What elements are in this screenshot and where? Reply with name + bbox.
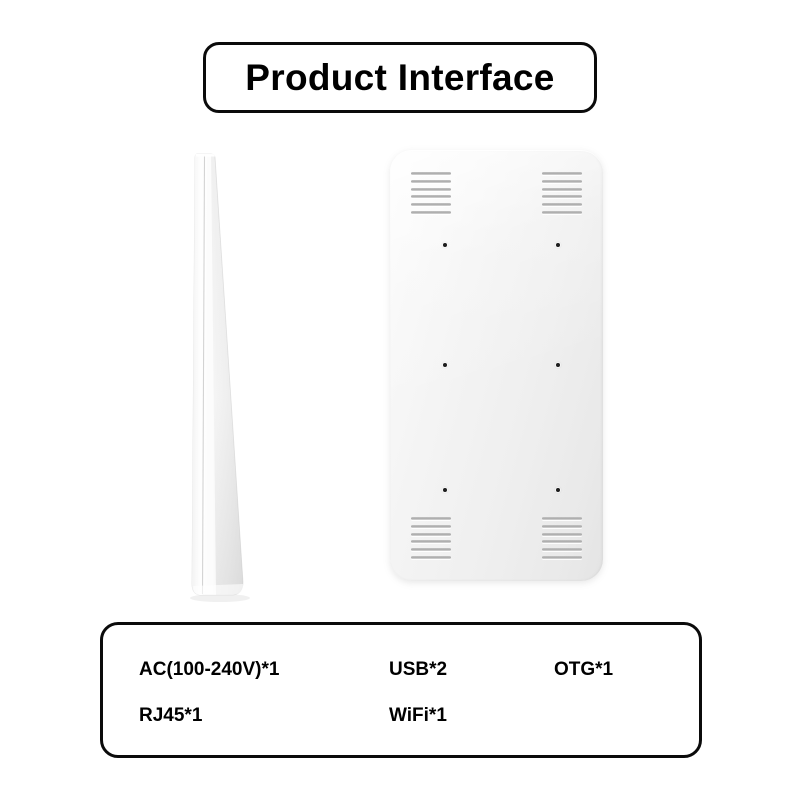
vent-slot: [542, 556, 582, 559]
screw-hole: [443, 243, 447, 247]
page-title-box: Product Interface: [203, 42, 597, 113]
page-title: Product Interface: [245, 59, 554, 96]
vent-grille-bottom-left: [411, 517, 451, 559]
product-back-panel-view: [390, 150, 603, 581]
vent-slot: [542, 180, 582, 183]
vent-slot: [542, 211, 582, 214]
vent-slot: [411, 556, 451, 559]
vent-slot: [542, 525, 582, 528]
vent-slot: [542, 195, 582, 198]
specification-grid: AC(100-240V)*1 USB*2 OTG*1 RJ45*1 WiFi*1: [139, 647, 681, 739]
screw-hole: [556, 488, 560, 492]
vent-slot: [411, 548, 451, 551]
vent-slot: [411, 188, 451, 191]
screw-hole: [443, 488, 447, 492]
vent-slot: [542, 517, 582, 520]
vent-slot: [542, 540, 582, 543]
vent-slot: [411, 517, 451, 520]
vent-slot: [411, 211, 451, 214]
screw-hole: [556, 363, 560, 367]
vent-grille-top-right: [542, 172, 582, 214]
vent-slot: [542, 188, 582, 191]
vent-slot: [542, 533, 582, 536]
vent-slot: [411, 180, 451, 183]
product-image-stage: [0, 128, 800, 608]
vent-slot: [411, 195, 451, 198]
vent-grille-top-left: [411, 172, 451, 214]
vent-slot: [542, 172, 582, 175]
spec-item-rj45: RJ45*1: [139, 705, 389, 727]
vent-slot: [411, 533, 451, 536]
spec-item-otg: OTG*1: [554, 659, 681, 681]
vent-slot: [542, 203, 582, 206]
screw-hole: [443, 363, 447, 367]
vent-slot: [411, 540, 451, 543]
spec-item-ac: AC(100-240V)*1: [139, 659, 389, 681]
vent-slot: [542, 548, 582, 551]
vent-grille-bottom-right: [542, 517, 582, 559]
specification-box: AC(100-240V)*1 USB*2 OTG*1 RJ45*1 WiFi*1: [100, 622, 702, 758]
screw-hole: [556, 243, 560, 247]
product-side-profile-view: [186, 146, 256, 602]
vent-slot: [411, 203, 451, 206]
vent-slot: [411, 525, 451, 528]
spec-item-usb: USB*2: [389, 659, 554, 681]
spec-item-wifi: WiFi*1: [389, 705, 554, 727]
vent-slot: [411, 172, 451, 175]
product-interface-page: Product Interface: [0, 0, 800, 800]
